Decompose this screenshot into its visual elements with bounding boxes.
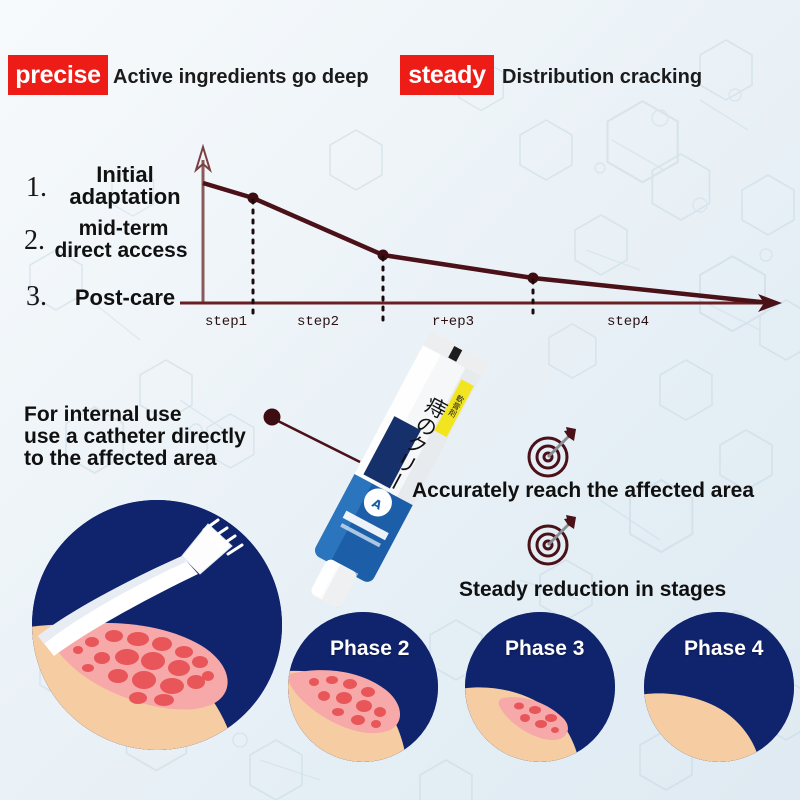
- phase-4-label: Phase 4: [684, 637, 763, 661]
- phase-2-label: Phase 2: [330, 637, 409, 661]
- phase-3-illustration: [465, 612, 615, 762]
- phase-4-illustration: [644, 612, 794, 762]
- phase-3-label: Phase 3: [505, 637, 584, 661]
- infographic-canvas: precise Active ingredients go deep stead…: [0, 0, 800, 800]
- phase-1-main-illustration: [32, 500, 282, 750]
- hemorrhoid-cream-tube: 痔のクリーム 軟膏剤 A: [268, 322, 518, 622]
- phase-2-illustration: [288, 612, 438, 762]
- target-arrow-icon-1: [522, 425, 580, 483]
- target-arrow-icon-2: [522, 513, 580, 571]
- right-callout-text-1: Accurately reach the affected area: [412, 479, 754, 503]
- right-callout-text-2: Steady reduction in stages: [459, 578, 726, 602]
